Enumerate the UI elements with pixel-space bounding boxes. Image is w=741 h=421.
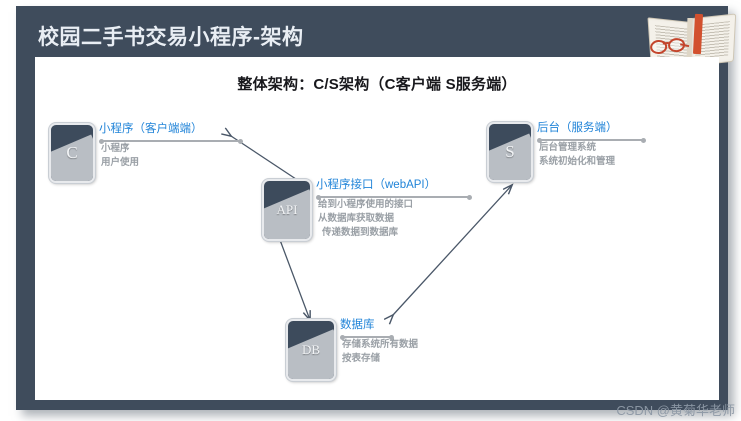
node-client-desc-1: 用户使用 xyxy=(101,156,139,170)
node-database-title: 数据库 xyxy=(340,318,375,332)
node-database-desc-1: 按表存储 xyxy=(342,352,380,366)
node-database-desc-0: 存储系统所有数据 xyxy=(342,338,418,352)
node-client-desc-0: 小程序 xyxy=(101,142,130,156)
node-client-letter: C xyxy=(51,125,93,181)
node-client-title: 小程序（客户端端） xyxy=(99,122,203,136)
node-api-icon: API xyxy=(262,179,312,241)
node-server-letter: S xyxy=(489,124,531,180)
node-api-desc-2: 传递数据到数据库 xyxy=(322,226,398,240)
slide-title-bar: 校园二手书交易小程序-架构 xyxy=(26,10,728,60)
watermark: CSDN @黄菊华老师 xyxy=(616,400,735,419)
node-server-desc-1: 系统初始化和管理 xyxy=(539,155,615,169)
node-server-desc-0: 后台管理系统 xyxy=(539,141,596,155)
node-api-desc-0: 给到小程序使用的接口 xyxy=(318,198,413,212)
page-title: 校园二手书交易小程序-架构 xyxy=(38,21,304,51)
diagram-subtitle: 整体架构：C/S架构（C客户端 S服务端） xyxy=(35,73,719,94)
node-server-icon: S xyxy=(487,122,533,182)
node-server-title: 后台（服务端） xyxy=(537,121,618,135)
diagram-canvas: 整体架构：C/S架构（C客户端 S服务端） C 小程序（客户端端） 小程序 用户… xyxy=(35,57,719,400)
node-client-icon: C xyxy=(49,123,95,183)
slide-root: 校园二手书交易小程序-架构 整体架构：C/S架构（C客户端 S服务端） xyxy=(0,0,741,421)
connector-api-database xyxy=(280,240,310,320)
node-database-icon: DB xyxy=(286,319,336,381)
node-api-letter: API xyxy=(264,181,310,239)
node-api-desc-1: 从数据库获取数据 xyxy=(318,212,394,226)
node-database-letter: DB xyxy=(288,321,334,379)
node-api-title: 小程序接口（webAPI） xyxy=(316,178,436,192)
